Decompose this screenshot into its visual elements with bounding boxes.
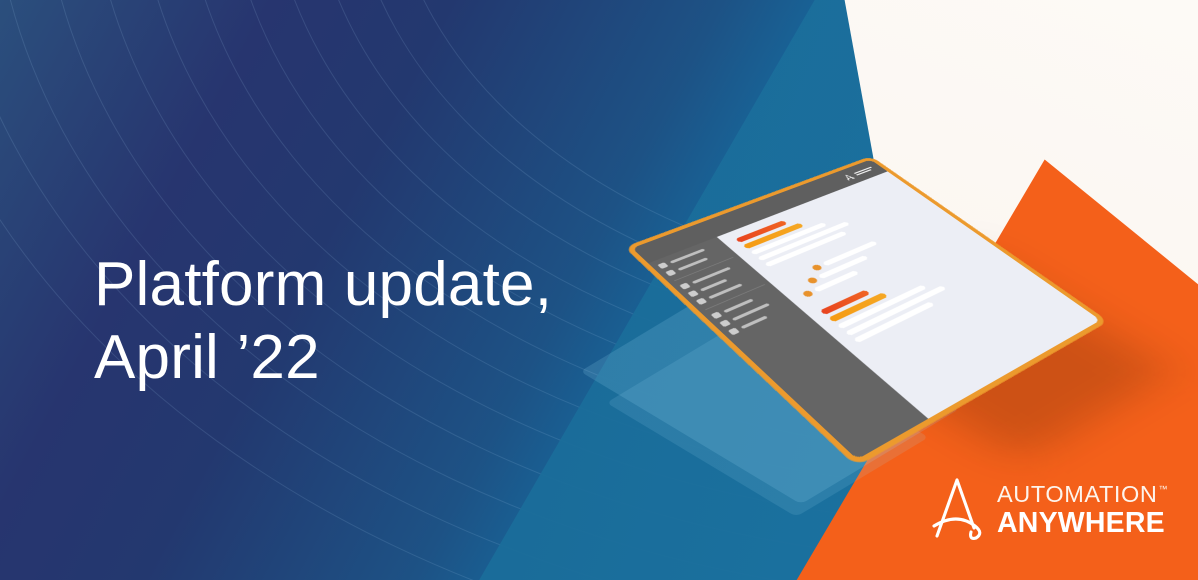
flow-node-dot <box>801 290 814 298</box>
gear-icon <box>687 290 699 297</box>
device-app-body <box>648 171 1100 459</box>
bot-icon <box>665 269 676 276</box>
grid-icon <box>657 262 668 269</box>
user-icon <box>711 312 723 320</box>
shield-icon <box>719 319 731 327</box>
chart-icon <box>696 298 708 305</box>
brand-lockup: AUTOMATION ™ ANYWHERE <box>926 474 1168 546</box>
trademark-symbol: ™ <box>1159 485 1169 494</box>
page-title: Platform update, April ’22 <box>94 248 674 394</box>
device-brand-wordmark <box>854 167 875 176</box>
flow-node-dot <box>811 264 823 272</box>
clock-icon <box>728 327 740 335</box>
folder-icon <box>679 283 691 290</box>
flow-node-dot <box>806 277 819 285</box>
brand-name-top-row: AUTOMATION ™ <box>997 483 1168 507</box>
brand-name-top: AUTOMATION <box>997 483 1158 507</box>
device-screen <box>632 160 1101 460</box>
automation-anywhere-a-mark-icon <box>926 474 988 546</box>
platform-update-banner: Platform update, April ’22 <box>0 0 1198 580</box>
brand-wordmark: AUTOMATION ™ ANYWHERE <box>997 483 1168 538</box>
brand-name-bottom: ANYWHERE <box>997 509 1168 538</box>
device-mockup-stage <box>648 148 1088 418</box>
